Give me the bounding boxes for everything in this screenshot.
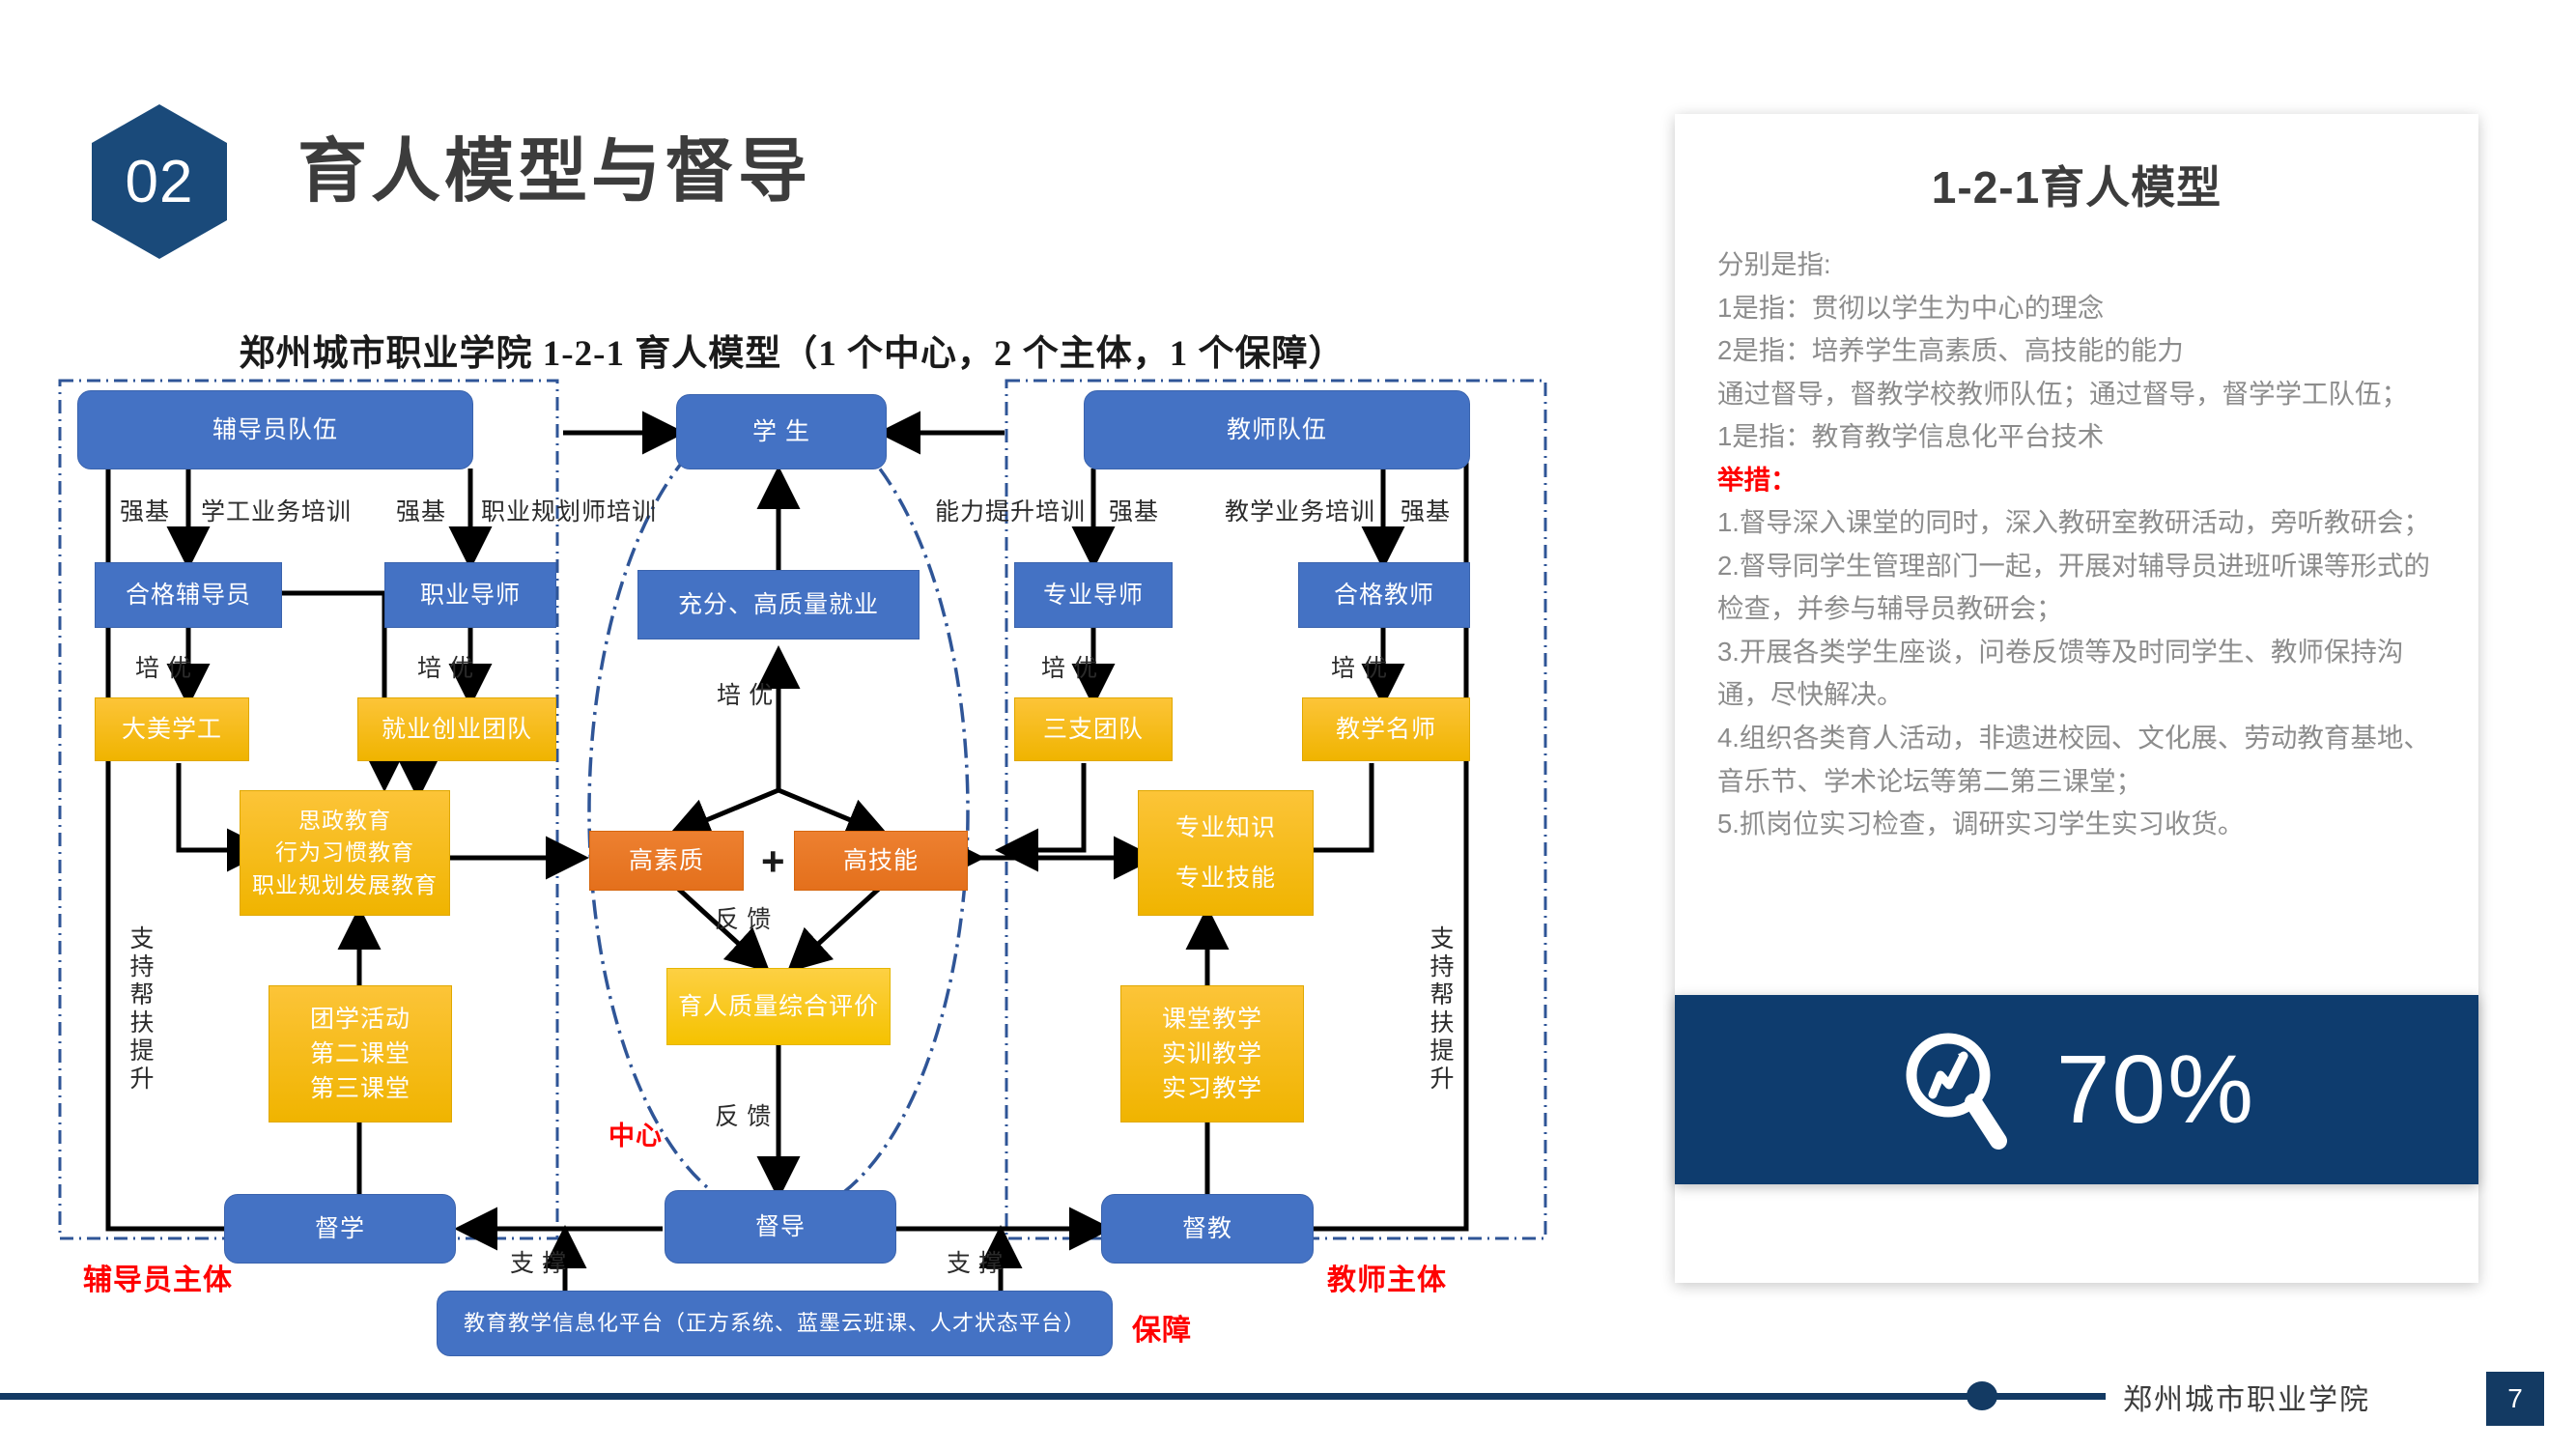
node-label: 大美学工 bbox=[122, 712, 222, 747]
edge-label-strong-base-3: 强基 bbox=[1109, 493, 1159, 527]
edge-label-cultivate-1: 培 优 bbox=[135, 649, 192, 684]
plus-sign: + bbox=[761, 838, 785, 885]
annotation-center: 中心 bbox=[609, 1115, 663, 1152]
edge-label-teaching-training: 教学业务培训 bbox=[1225, 493, 1375, 527]
node-label: 专业导师 bbox=[1043, 578, 1144, 612]
node-label: 督导 bbox=[755, 1209, 806, 1244]
diagram-canvas: 辅导员队伍 学 生 教师队伍 合格辅导员 职业导师 充分、高质量就业 专业导师 … bbox=[0, 0, 1642, 1449]
node-teacher-team[interactable]: 教师队伍 bbox=[1084, 390, 1470, 469]
edge-label-feedback-1: 反 馈 bbox=[715, 900, 772, 935]
footer-dot bbox=[1967, 1381, 1997, 1410]
node-career-mentor[interactable]: 职业导师 bbox=[384, 562, 556, 628]
edge-label-cultivate-3: 培 优 bbox=[1041, 649, 1098, 684]
node-label-line1: 课堂教学 bbox=[1162, 1002, 1262, 1037]
node-label: 教学名师 bbox=[1336, 712, 1436, 747]
node-label: 教师队伍 bbox=[1227, 412, 1327, 447]
edge-label-feedback-2: 反 馈 bbox=[715, 1097, 772, 1132]
node-supervise-teach[interactable]: 督教 bbox=[1101, 1194, 1314, 1264]
node-label-line1: 团学活动 bbox=[310, 1002, 410, 1037]
node-label-line2: 专业技能 bbox=[1175, 861, 1276, 895]
edge-label-support-help-right: 支持帮扶提升 bbox=[1422, 925, 1457, 1094]
panel-paragraph: 2.督导同学生管理部门一起，开展对辅导员进班听课等形式的检查，并参与辅导员教研会… bbox=[1717, 545, 2436, 631]
edge-label-support-left: 支 撑 bbox=[510, 1244, 567, 1279]
node-three-support-team[interactable]: 三支团队 bbox=[1014, 697, 1173, 761]
node-counselor-team[interactable]: 辅导员队伍 bbox=[77, 390, 473, 469]
node-classroom-teaching[interactable]: 课堂教学 实训教学 实习教学 bbox=[1120, 985, 1304, 1122]
node-label-line1: 思政教育 bbox=[298, 805, 391, 837]
node-label: 充分、高质量就业 bbox=[678, 587, 879, 622]
edge-label-career-planner-training: 职业规划师培训 bbox=[481, 493, 657, 527]
node-supervise-guide[interactable]: 督导 bbox=[665, 1190, 896, 1264]
edge-label-cultivate-4: 培 优 bbox=[1331, 649, 1388, 684]
annotation-counselor-subject: 辅导员主体 bbox=[83, 1256, 233, 1298]
node-label: 辅导员队伍 bbox=[212, 412, 338, 447]
node-qualified-teacher[interactable]: 合格教师 bbox=[1298, 562, 1470, 628]
panel-heading: 1-2-1育人模型 bbox=[1675, 153, 2478, 216]
panel-paragraph: 5.抓岗位实习检查，调研实习学生实习收货。 bbox=[1717, 803, 2436, 846]
edge-label-cultivate-2: 培 优 bbox=[417, 649, 474, 684]
panel-paragraph: 1.督导深入课堂的同时，深入教研室教研活动，旁听教研会； bbox=[1717, 501, 2436, 545]
magnifier-chart-icon bbox=[1898, 1027, 2014, 1152]
node-youth-activity[interactable]: 团学活动 第二课堂 第三课堂 bbox=[269, 985, 452, 1122]
node-qualified-counselor[interactable]: 合格辅导员 bbox=[95, 562, 282, 628]
edge-label-ability-training: 能力提升培训 bbox=[935, 493, 1086, 527]
panel-paragraph: 4.组织各类育人活动，非遗进校园、文化展、劳动教育基地、音乐节、学术论坛等第二第… bbox=[1717, 717, 2436, 803]
node-label: 职业导师 bbox=[420, 578, 521, 612]
node-label: 就业创业团队 bbox=[382, 712, 532, 747]
node-label: 三支团队 bbox=[1043, 712, 1144, 747]
node-label: 督学 bbox=[315, 1211, 365, 1246]
node-label-line2: 行为习惯教育 bbox=[275, 837, 414, 868]
panel-paragraph: 1是指：教育教学信息化平台技术 bbox=[1717, 415, 2436, 459]
page-number: 7 bbox=[2486, 1372, 2544, 1426]
stat-value: 70% bbox=[2056, 1035, 2255, 1146]
edge-label-cultivate-center: 培 优 bbox=[717, 676, 774, 711]
node-ideological-education[interactable]: 思政教育 行为习惯教育 职业规划发展教育 bbox=[240, 790, 450, 916]
node-supervise-study[interactable]: 督学 bbox=[224, 1194, 456, 1264]
node-major-mentor[interactable]: 专业导师 bbox=[1014, 562, 1173, 628]
edge-label-support-right: 支 撑 bbox=[947, 1244, 1004, 1279]
node-label: 高技能 bbox=[843, 843, 919, 878]
node-label-line3: 第三课堂 bbox=[310, 1071, 410, 1106]
annotation-guarantee: 保障 bbox=[1132, 1306, 1192, 1349]
footer-organization: 郑州城市职业学院 bbox=[2123, 1376, 2370, 1418]
edge-label-student-work-training: 学工业务培训 bbox=[201, 493, 352, 527]
edge-label-strong-base-1: 强基 bbox=[120, 493, 170, 527]
panel-paragraph: 2是指：培养学生高素质、高技能的能力 bbox=[1717, 329, 2436, 373]
edge-label-support-help-left: 支持帮扶提升 bbox=[122, 925, 156, 1094]
node-damei-student-work[interactable]: 大美学工 bbox=[95, 697, 249, 761]
node-label: 合格教师 bbox=[1334, 578, 1434, 612]
node-employment-entrepreneur-team[interactable]: 就业创业团队 bbox=[357, 697, 556, 761]
annotation-teacher-subject: 教师主体 bbox=[1327, 1256, 1447, 1298]
node-label-line2: 第二课堂 bbox=[310, 1037, 410, 1071]
node-label-line1: 专业知识 bbox=[1175, 810, 1276, 845]
panel-paragraph: 举措： bbox=[1717, 459, 2436, 502]
node-label: 育人质量综合评价 bbox=[678, 989, 879, 1024]
node-quality-evaluation[interactable]: 育人质量综合评价 bbox=[666, 968, 891, 1045]
edge-label-strong-base-2: 强基 bbox=[396, 493, 446, 527]
node-label: 督教 bbox=[1182, 1211, 1232, 1246]
node-label: 教育教学信息化平台（正方系统、蓝墨云班课、人才状态平台） bbox=[464, 1308, 1086, 1339]
panel-body: 分别是指:1是指：贯彻以学生为中心的理念2是指：培养学生高素质、高技能的能力通过… bbox=[1717, 243, 2436, 846]
node-label-line3: 职业规划发展教育 bbox=[252, 869, 438, 901]
panel-paragraph: 分别是指: bbox=[1717, 243, 2436, 287]
panel-paragraph: 通过督导，督教学校教师队伍；通过督导，督学学工队伍； bbox=[1717, 373, 2436, 416]
node-professional-knowledge[interactable]: 专业知识 专业技能 bbox=[1138, 790, 1314, 916]
node-high-quality[interactable]: 高素质 bbox=[589, 831, 744, 891]
panel-paragraph: 1是指：贯彻以学生为中心的理念 bbox=[1717, 287, 2436, 330]
node-full-quality-employment[interactable]: 充分、高质量就业 bbox=[637, 570, 920, 639]
node-label-line2: 实训教学 bbox=[1162, 1037, 1262, 1071]
node-student[interactable]: 学 生 bbox=[676, 394, 887, 469]
stat-banner: 70% bbox=[1675, 995, 2478, 1184]
footer-rule bbox=[0, 1393, 2106, 1400]
node-label: 高素质 bbox=[629, 843, 704, 878]
node-teaching-master[interactable]: 教学名师 bbox=[1302, 697, 1470, 761]
node-info-platform[interactable]: 教育教学信息化平台（正方系统、蓝墨云班课、人才状态平台） bbox=[437, 1291, 1113, 1356]
node-label: 合格辅导员 bbox=[126, 578, 251, 612]
node-label-line3: 实习教学 bbox=[1162, 1071, 1262, 1106]
edge-label-strong-base-4: 强基 bbox=[1401, 493, 1451, 527]
node-high-skill[interactable]: 高技能 bbox=[794, 831, 968, 891]
node-label: 学 生 bbox=[752, 414, 810, 449]
panel-paragraph: 3.开展各类学生座谈，问卷反馈等及时同学生、教师保持沟通，尽快解决。 bbox=[1717, 631, 2436, 717]
